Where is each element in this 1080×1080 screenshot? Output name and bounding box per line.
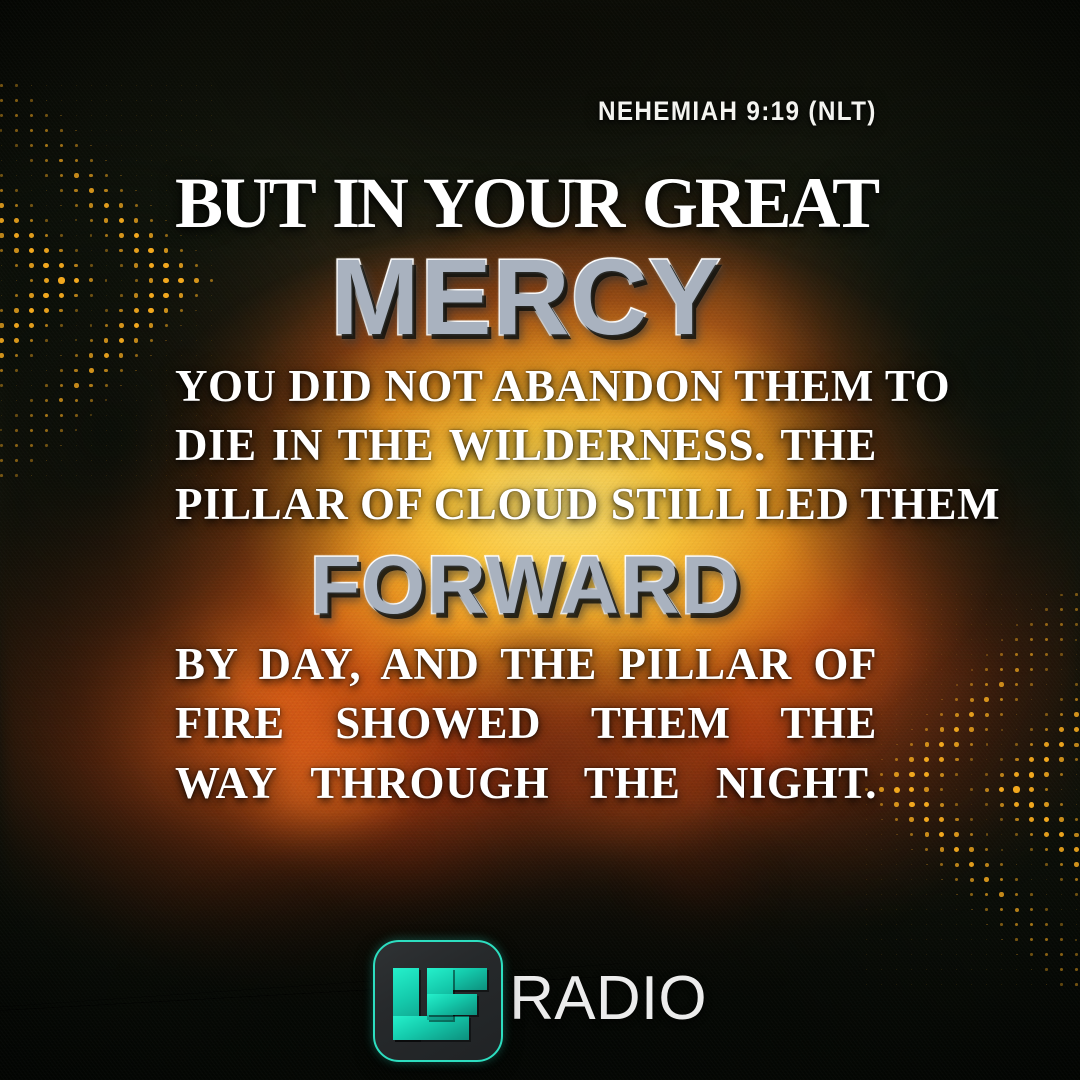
lf-stroke <box>427 994 477 1015</box>
verse-line: PILLAR OF CLOUD STILL LED THEM <box>175 475 877 534</box>
lf-monogram-shape <box>375 942 501 1060</box>
verse-line: WAY THROUGH THE NIGHT. <box>175 754 877 813</box>
verse-line: DIE IN THE WILDERNESS. THE <box>175 416 877 475</box>
verse-body-top: YOU DID NOT ABANDON THEM TO DIE IN THE W… <box>175 357 877 535</box>
lf-monogram-icon <box>373 940 503 1062</box>
content-column: NEHEMIAH 9:19 (NLT) BUT IN YOUR GREAT ME… <box>175 0 877 1080</box>
verse-lead-line: BUT IN YOUR GREAT <box>175 168 877 239</box>
verse-body-bottom: BY DAY, AND THE PILLAR OF FIRE SHOWED TH… <box>175 635 877 813</box>
verse-line: YOU DID NOT ABANDON THEM TO <box>175 357 877 416</box>
brand-logo[interactable]: RADIO <box>0 940 1080 1062</box>
accent-word-forward: FORWARD <box>177 545 875 627</box>
verse-line: FIRE SHOWED THEM THE <box>175 694 877 753</box>
scripture-graphic-canvas: NEHEMIAH 9:19 (NLT) BUT IN YOUR GREAT ME… <box>0 0 1080 1080</box>
halftone-chevron-left-icon <box>859 587 1080 992</box>
verse-block: BUT IN YOUR GREAT MERCY YOU DID NOT ABAN… <box>175 168 877 813</box>
accent-word-mercy: MERCY <box>180 243 871 351</box>
scripture-reference: NEHEMIAH 9:19 (NLT) <box>598 96 877 127</box>
brand-wordmark: RADIO <box>509 968 707 1034</box>
verse-line: BY DAY, AND THE PILLAR OF <box>175 635 877 694</box>
